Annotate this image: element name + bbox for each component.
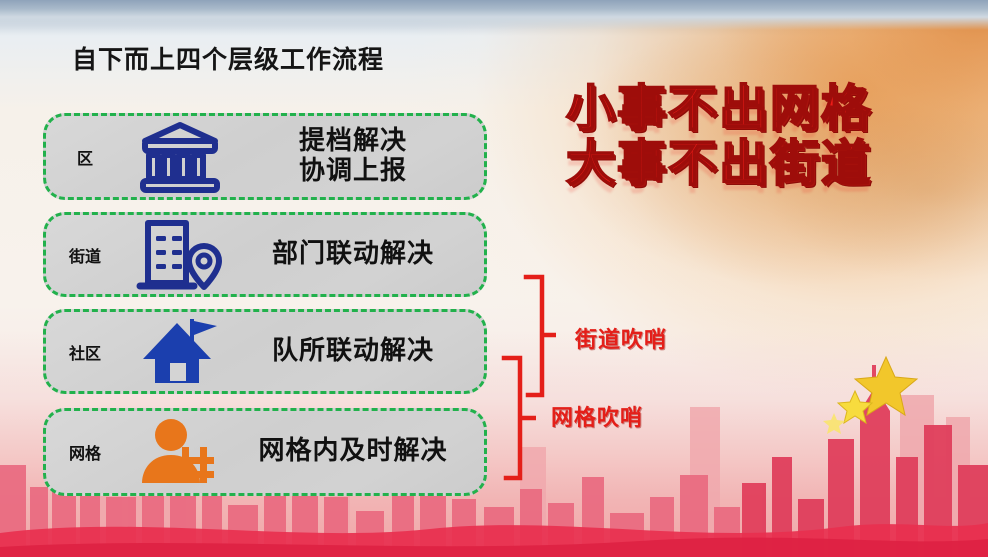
slogan-line2: 大事不出街道 <box>566 137 872 192</box>
brace-label-grid-whistle: 网格吹哨 <box>551 400 643 432</box>
level-text-district-line1: 提档解决 <box>299 126 407 156</box>
brace-label-street-whistle: 街道吹哨 <box>575 322 667 354</box>
level-text-district: 提档解决 协调上报 <box>236 127 484 185</box>
level-text-community: 队所联动解决 <box>236 337 484 366</box>
office-building-location-pin-icon <box>124 218 236 292</box>
level-text-grid: 网格内及时解决 <box>236 437 484 466</box>
gold-star-tiny <box>823 413 845 434</box>
government-building-icon <box>124 121 236 193</box>
level-text-street-line1: 部门联动解决 <box>272 239 434 269</box>
brace-street-whistle-shape <box>526 277 556 395</box>
slide-canvas: 自下而上四个层级工作流程 区 提档解决 协调上报 街道 <box>0 0 988 557</box>
level-text-grid-line1: 网格内及时解决 <box>258 436 447 466</box>
level-label-community: 社区 <box>46 340 124 364</box>
level-box-community[interactable]: 社区 队所联动解决 <box>43 309 487 394</box>
level-label-grid: 网格 <box>46 440 124 464</box>
brace-group <box>490 260 730 500</box>
slogan-headline: 小事不出网格 大事不出街道 <box>566 82 872 192</box>
level-text-street: 部门联动解决 <box>236 240 484 269</box>
flow-title: 自下而上四个层级工作流程 <box>72 40 384 76</box>
slogan-line1: 小事不出网格 <box>566 82 872 137</box>
level-text-district-line2: 协调上报 <box>236 157 470 186</box>
level-text-community-line1: 队所联动解决 <box>272 336 434 366</box>
level-label-street: 街道 <box>46 243 124 267</box>
brace-grid-whistle-shape <box>504 358 536 478</box>
person-grid-icon <box>124 417 236 487</box>
level-label-district: 区 <box>46 145 124 169</box>
house-with-flag-icon <box>124 315 236 389</box>
level-box-street[interactable]: 街道 部门联动解决 <box>43 212 487 297</box>
level-box-district[interactable]: 区 提档解决 协调上报 <box>43 113 487 200</box>
level-box-grid[interactable]: 网格 网格内及时解决 <box>43 408 487 496</box>
